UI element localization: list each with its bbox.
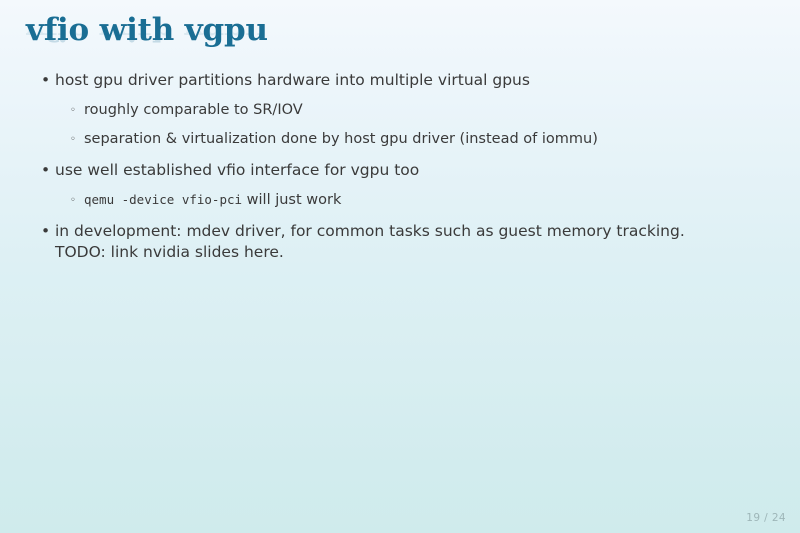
list-item-label: host gpu driver partitions hardware into… (55, 71, 530, 89)
list-item-label-line2: TODO: link nvidia slides here. (55, 242, 800, 263)
slide-content: • host gpu driver partitions hardware in… (0, 70, 800, 274)
presentation-slide: vfio with vgpu vfio with vgpu • host gpu… (0, 0, 800, 533)
sub-bullet-list: ◦ roughly comparable to SR/IOV ◦ separat… (55, 100, 800, 149)
bullet-list: • host gpu driver partitions hardware in… (0, 70, 800, 263)
sub-bullet-list: ◦ qemu -device vfio-pci will just work (55, 190, 800, 210)
list-item-label: separation & virtualization done by host… (84, 131, 598, 147)
list-item-label: in development: mdev driver, for common … (55, 222, 685, 240)
list-item-label: use well established vfio interface for … (55, 161, 419, 179)
page-title-reflection: vfio with vgpu (26, 23, 268, 47)
list-item: ◦ separation & virtualization done by ho… (55, 129, 800, 149)
list-item-label: roughly comparable to SR/IOV (84, 102, 303, 118)
sub-bullet-marker-icon: ◦ (70, 100, 76, 121)
slide-title-area: vfio with vgpu vfio with vgpu (26, 12, 268, 68)
bullet-marker-icon: • (41, 221, 50, 242)
list-item: ◦ qemu -device vfio-pci will just work (55, 190, 800, 210)
inline-code: qemu -device vfio-pci (84, 192, 242, 207)
list-item-label: will just work (242, 192, 341, 208)
page-number: 19 / 24 (746, 512, 786, 524)
list-item: ◦ roughly comparable to SR/IOV (55, 100, 800, 120)
list-item: • use well established vfio interface fo… (0, 160, 800, 210)
sub-bullet-marker-icon: ◦ (70, 190, 76, 211)
list-item: • host gpu driver partitions hardware in… (0, 70, 800, 149)
list-item: • in development: mdev driver, for commo… (0, 221, 800, 263)
bullet-marker-icon: • (41, 70, 50, 91)
bullet-marker-icon: • (41, 160, 50, 181)
sub-bullet-marker-icon: ◦ (70, 129, 76, 150)
